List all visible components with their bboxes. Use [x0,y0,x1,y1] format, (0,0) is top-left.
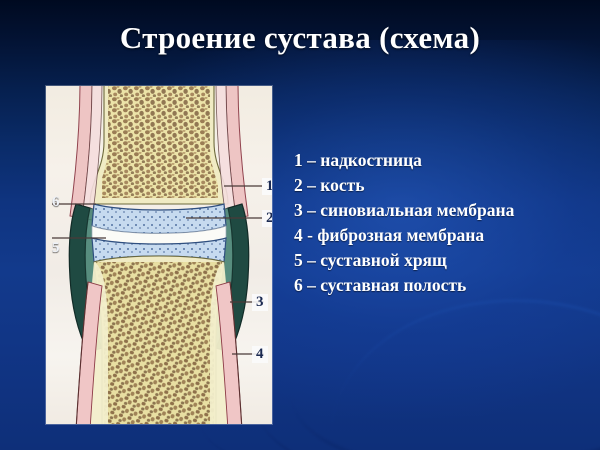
upper-articular-cartilage [92,204,226,234]
slide-canvas: Строение сустава (схема) [0,0,600,450]
legend-number-5: 5 [294,250,307,270]
legend-label-4: фиброзная мембрана [317,225,484,245]
legend-number-4: 4 [294,225,307,245]
callout-2[interactable]: 2 [262,210,272,227]
decorative-swoosh-3 [313,277,600,450]
legend-number-2: 2 [294,175,307,195]
callout-5[interactable]: 5 [48,240,64,257]
legend-dash-4: - [307,225,317,245]
slide-title: Строение сустава (схема) [0,20,600,56]
legend-item-4: 4 - фиброзная мембрана [294,223,594,248]
callout-6[interactable]: 6 [48,194,64,211]
legend-number-6: 6 [294,275,307,295]
legend-label-3: синовиальная мембрана [320,200,514,220]
legend-item-2: 2 – кость [294,173,594,198]
legend-label-6: суставная полость [320,275,466,295]
legend-item-1: 1 – надкостница [294,148,594,173]
legend-item-5: 5 – суставной хрящ [294,248,594,273]
callout-1[interactable]: 1 [262,178,272,195]
callout-4[interactable]: 4 [252,346,268,363]
legend-dash-2: – [307,175,320,195]
legend-label-2: кость [320,175,364,195]
legend-item-3: 3 – синовиальная мембрана [294,198,594,223]
legend-number-1: 1 [294,150,307,170]
legend-dash-5: – [307,250,320,270]
legend-list: 1 – надкостница 2 – кость 3 – синовиальн… [294,148,594,298]
legend-dash-1: – [307,150,320,170]
legend-number-3: 3 [294,200,307,220]
legend-label-5: суставной хрящ [320,250,447,270]
upper-spongy-bone [102,86,218,204]
legend-dash-6: – [307,275,320,295]
joint-diagram-svg [46,86,272,424]
legend-dash-3: – [307,200,320,220]
lower-spongy-bone [96,260,224,424]
legend-item-6: 6 – суставная полость [294,273,594,298]
joint-anatomy-figure: 1 2 3 4 [46,86,272,424]
callout-3[interactable]: 3 [252,294,268,311]
legend-label-1: надкостница [320,150,422,170]
